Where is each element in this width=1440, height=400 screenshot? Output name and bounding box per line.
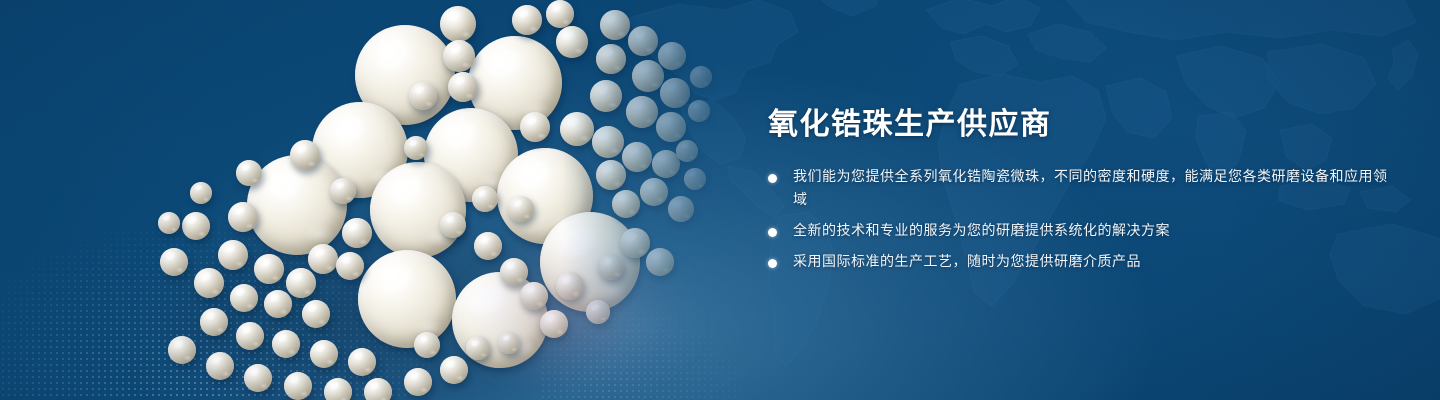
bead-medium: [474, 232, 502, 260]
bead-medium: [560, 112, 594, 146]
bead-medium: [598, 254, 624, 280]
bead-medium: [556, 272, 584, 300]
bead-medium: [628, 26, 658, 56]
bead-small: [190, 182, 212, 204]
bead-medium: [364, 378, 392, 400]
bead-medium: [302, 300, 330, 328]
banner-headline: 氧化锆珠生产供应商: [768, 106, 1388, 144]
bead-small: [404, 136, 428, 160]
bead-medium: [218, 240, 248, 270]
bead-medium: [646, 248, 674, 276]
bead-large: [370, 162, 466, 258]
bullet-dot-icon: [768, 174, 777, 183]
bead-medium: [284, 372, 312, 400]
bead-medium: [264, 290, 292, 318]
banner-bullet-text: 全新的技术和专业的服务为您的研磨提供系统化的解决方案: [793, 220, 1388, 243]
bead-medium: [658, 42, 686, 70]
bead-medium: [230, 284, 258, 312]
bead-medium: [520, 282, 548, 310]
banner-copy: 氧化锆珠生产供应商 我们能为您提供全系列氧化锆陶瓷微珠，不同的密度和硬度，能满足…: [768, 106, 1388, 274]
bead-medium: [622, 142, 652, 172]
bead-medium: [404, 368, 432, 396]
bead-medium: [448, 72, 478, 102]
bead-medium: [668, 196, 694, 222]
bullet-dot-icon: [768, 228, 777, 237]
zirconia-beads-photo: [0, 0, 760, 400]
bead-medium: [228, 202, 258, 232]
bead-medium: [236, 160, 262, 186]
bead-medium: [194, 268, 224, 298]
bead-medium: [290, 140, 320, 170]
bead-medium: [620, 228, 650, 258]
bead-medium: [414, 332, 440, 358]
bead-medium: [500, 258, 528, 286]
bead-medium: [200, 308, 228, 336]
bead-medium: [596, 160, 626, 190]
bullet-dot-icon: [768, 259, 777, 268]
bead-medium: [596, 44, 626, 74]
bead-small: [688, 100, 710, 122]
bead-medium: [612, 190, 640, 218]
bead-medium: [160, 248, 188, 276]
bead-medium: [336, 252, 364, 280]
bead-medium: [660, 78, 690, 108]
bead-small: [158, 212, 180, 234]
bead-medium: [182, 212, 210, 240]
banner-bullet-item: 采用国际标准的生产工艺，随时为您提供研磨介质产品: [768, 251, 1388, 274]
bead-small: [684, 168, 706, 190]
bead-small: [676, 140, 698, 162]
bead-medium: [626, 96, 658, 128]
banner-bullet-text: 我们能为您提供全系列氧化锆陶瓷微珠，不同的密度和硬度，能满足您各类研磨设备和应用…: [793, 166, 1388, 212]
bead-medium: [348, 348, 376, 376]
bead-large: [540, 212, 640, 312]
bead-medium: [244, 364, 272, 392]
bead-medium: [640, 178, 668, 206]
bead-medium: [330, 178, 356, 204]
bead-medium: [443, 40, 475, 72]
bead-medium: [592, 126, 624, 158]
bead-medium: [440, 6, 476, 42]
banner-bullet-text: 采用国际标准的生产工艺，随时为您提供研磨介质产品: [793, 251, 1388, 274]
bead-small: [690, 66, 712, 88]
bead-medium: [472, 186, 498, 212]
bead-medium: [168, 336, 196, 364]
bead-medium: [546, 0, 574, 28]
bead-small: [586, 300, 610, 324]
bead-large: [358, 250, 456, 348]
bead-medium: [310, 340, 338, 368]
bead-small: [498, 332, 520, 354]
bead-medium: [324, 378, 352, 400]
bead-medium: [600, 10, 630, 40]
bead-medium: [520, 112, 550, 142]
bead-small: [466, 336, 490, 360]
hero-banner: 氧化锆珠生产供应商 我们能为您提供全系列氧化锆陶瓷微珠，不同的密度和硬度，能满足…: [0, 0, 1440, 400]
bead-medium: [308, 244, 338, 274]
bead-medium: [272, 330, 300, 358]
bead-medium: [342, 218, 372, 248]
bead-medium: [440, 356, 468, 384]
banner-bullet-list: 我们能为您提供全系列氧化锆陶瓷微珠，不同的密度和硬度，能满足您各类研磨设备和应用…: [768, 166, 1388, 274]
bead-medium: [556, 26, 588, 58]
bead-medium: [632, 60, 664, 92]
bead-medium: [540, 310, 568, 338]
bead-medium: [206, 352, 234, 380]
banner-bullet-item: 我们能为您提供全系列氧化锆陶瓷微珠，不同的密度和硬度，能满足您各类研磨设备和应用…: [768, 166, 1388, 212]
bead-medium: [508, 196, 534, 222]
bead-medium: [512, 5, 542, 35]
bead-medium: [286, 268, 316, 298]
bead-large: [247, 155, 347, 255]
bead-medium: [254, 254, 284, 284]
bead-medium: [440, 212, 466, 238]
bead-medium: [236, 322, 264, 350]
bead-medium: [656, 112, 686, 142]
banner-bullet-item: 全新的技术和专业的服务为您的研磨提供系统化的解决方案: [768, 220, 1388, 243]
bead-medium: [409, 82, 437, 110]
bead-medium: [590, 80, 622, 112]
